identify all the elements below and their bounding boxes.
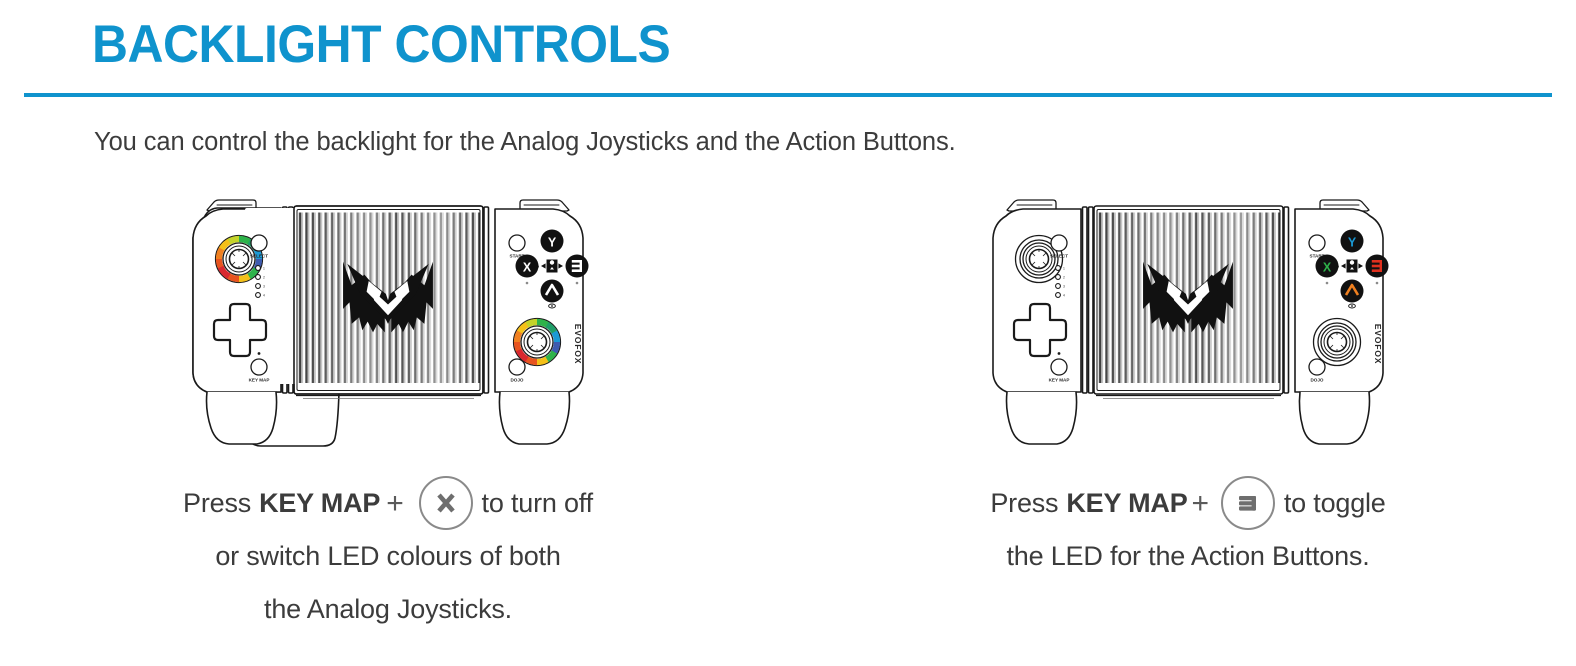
svg-text:3: 3 xyxy=(263,285,265,289)
page-title: BACKLIGHT CONTROLS xyxy=(92,18,670,71)
action-button-b-icon xyxy=(1221,476,1275,530)
svg-text:4: 4 xyxy=(263,294,265,298)
dojo-button xyxy=(1309,359,1325,375)
select-label: SELECT xyxy=(1050,254,1068,259)
caption-line-1: Press KEY MAP + to toggle xyxy=(818,476,1558,530)
dojo-label: DOJO xyxy=(1310,378,1323,383)
svg-text:D: D xyxy=(536,264,539,269)
action-button-x-icon xyxy=(419,476,473,530)
caption-line-3: the Analog Joysticks. xyxy=(18,583,758,636)
start-button xyxy=(1309,235,1325,251)
svg-text:2: 2 xyxy=(263,276,265,280)
select-button xyxy=(1051,235,1067,251)
caption-joystick-backlight: Press KEY MAP + to turn off or switch LE… xyxy=(18,476,758,636)
dojo-button xyxy=(509,359,525,375)
backlight-panels: SELECT 1 2 3 4 xyxy=(0,196,1576,666)
plus-icon: + xyxy=(380,489,409,519)
select-label: SELECT xyxy=(250,254,268,259)
svg-text:3: 3 xyxy=(1063,285,1065,289)
header-divider xyxy=(24,93,1552,97)
dojo-label: DOJO xyxy=(510,378,523,383)
svg-text:4: 4 xyxy=(1063,294,1065,298)
action-button-a xyxy=(541,280,564,303)
caption-line-2: the LED for the Action Buttons. xyxy=(818,530,1558,583)
caption-post-text: to turn off xyxy=(482,477,593,530)
svg-text:X: X xyxy=(1323,261,1332,275)
svg-text:1: 1 xyxy=(263,267,265,271)
caption-key-map: KEY MAP xyxy=(1066,477,1187,530)
panel-action-button-backlight: SELECT 1 2 3 4 KEY xyxy=(818,196,1558,666)
svg-text:X: X xyxy=(523,261,532,275)
svg-text:Y: Y xyxy=(1348,236,1357,250)
caption-action-button-backlight: Press KEY MAP + to toggle th xyxy=(818,476,1558,583)
controller-illustration-joystick-led: SELECT 1 2 3 4 xyxy=(183,196,593,448)
caption-line-1: Press KEY MAP + to turn off xyxy=(18,476,758,530)
caption-line-2: or switch LED colours of both xyxy=(18,530,758,583)
svg-text:1: 1 xyxy=(1063,267,1065,271)
caption-key-map: KEY MAP xyxy=(259,477,380,530)
brand-label: EVOFOX xyxy=(1373,324,1383,365)
right-analog-stick-led-off xyxy=(1314,319,1361,366)
start-button xyxy=(509,235,525,251)
key-map-label: KEY MAP xyxy=(1049,378,1070,383)
caption-press-word: Press xyxy=(183,477,251,530)
plus-icon: + xyxy=(1188,489,1212,519)
caption-post-text: to toggle xyxy=(1284,477,1386,530)
svg-text:Y: Y xyxy=(548,236,557,250)
key-map-label: KEY MAP xyxy=(249,378,270,383)
caption-press-word: Press xyxy=(990,477,1058,530)
svg-text:2: 2 xyxy=(1063,276,1065,280)
intro-paragraph: You can control the backlight for the An… xyxy=(94,128,956,157)
svg-text:D: D xyxy=(1336,264,1339,269)
brand-label: EVOFOX xyxy=(573,324,583,365)
select-button xyxy=(251,235,267,251)
panel-joystick-backlight: SELECT 1 2 3 4 xyxy=(18,196,758,666)
controller-illustration-action-led: SELECT 1 2 3 4 KEY xyxy=(983,196,1393,448)
action-button-a xyxy=(1341,280,1364,303)
